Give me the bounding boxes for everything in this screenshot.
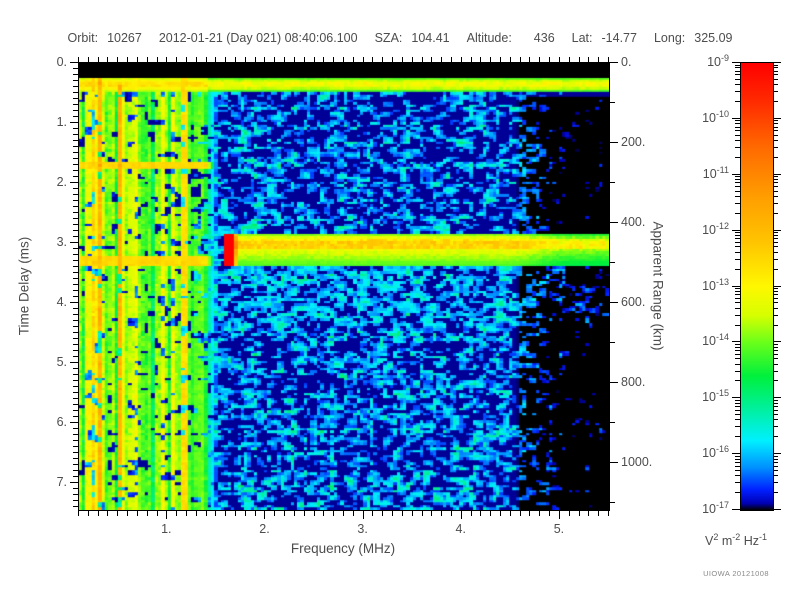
axis-tick [490, 57, 491, 62]
axis-tick [255, 511, 256, 516]
axis-tick [773, 174, 781, 175]
axis-tick [735, 371, 740, 372]
axis-tick [431, 57, 432, 62]
axis-tick [500, 511, 501, 516]
axis-tick [166, 511, 167, 519]
axis-tick [735, 419, 740, 420]
axis-tick [73, 452, 78, 453]
axis-tick [73, 398, 78, 399]
axis-tick [78, 511, 79, 516]
axis-tick [294, 57, 295, 62]
axis-tick [107, 57, 108, 62]
axis-tick [480, 57, 481, 62]
axis-tick [773, 147, 778, 148]
axis-tick [773, 235, 778, 236]
colorbar-tick-exponent: -17 [716, 500, 729, 510]
axis-tick [773, 91, 778, 92]
axis-tick [73, 416, 78, 417]
axis-tick [773, 475, 778, 476]
axis-tick [176, 511, 177, 516]
axis-tick [735, 74, 740, 75]
axis-tick [73, 314, 78, 315]
axis-tick [773, 397, 781, 398]
axis-tick [735, 67, 740, 68]
axis-tick [98, 511, 99, 516]
colorbar-tick-label: 10-11 [703, 167, 729, 181]
orbit-label: Orbit: [68, 31, 99, 45]
axis-tick [773, 462, 778, 463]
axis-tick [773, 84, 778, 85]
frequency-axis-title: Frequency (MHz) [78, 541, 608, 556]
axis-tick [735, 456, 740, 457]
axis-tick [773, 453, 781, 454]
axis-tick [735, 79, 740, 80]
axis-tick [117, 511, 118, 516]
axis-tick [610, 222, 618, 223]
axis-tick [735, 246, 740, 247]
axis-tick [773, 426, 778, 427]
axis-tick [735, 232, 740, 233]
axis-tick [773, 130, 778, 131]
axis-tick [137, 511, 138, 516]
apparent-range-tick-label: 400. [621, 215, 645, 229]
axis-tick [559, 511, 560, 519]
axis-tick [73, 236, 78, 237]
axis-tick [773, 65, 778, 66]
axis-tick [735, 347, 740, 348]
time-delay-axis-title: Time Delay (ms) [14, 62, 34, 509]
axis-tick [215, 57, 216, 62]
axis-tick [73, 500, 78, 501]
axis-tick [73, 146, 78, 147]
axis-tick [735, 130, 740, 131]
axis-tick [471, 57, 472, 62]
time-delay-tick-label: 5. [57, 355, 67, 369]
time-delay-tick-label: 2. [57, 175, 67, 189]
colorbar-tick-mantissa: 10 [702, 502, 716, 516]
axis-tick [73, 104, 78, 105]
axis-tick [735, 140, 740, 141]
axis-tick [773, 196, 778, 197]
colorbar-tick-label: 10-17 [702, 502, 729, 516]
axis-tick [773, 191, 778, 192]
axis-tick [73, 410, 78, 411]
axis-tick [735, 466, 740, 467]
axis-tick [735, 400, 740, 401]
axis-tick [610, 182, 615, 183]
axis-tick [73, 344, 78, 345]
axis-tick [343, 511, 344, 516]
axis-tick [73, 446, 78, 447]
axis-tick [773, 118, 781, 119]
colorbar-tick-label: 10-15 [702, 390, 729, 404]
axis-tick [117, 57, 118, 62]
axis-tick [608, 57, 609, 62]
axis-tick [735, 459, 740, 460]
axis-tick [314, 511, 315, 516]
axis-tick [735, 492, 740, 493]
apparent-range-tick-label: 200. [621, 135, 645, 149]
axis-tick [196, 57, 197, 62]
axis-tick [73, 332, 78, 333]
axis-tick [422, 511, 423, 516]
axis-tick [451, 511, 452, 516]
axis-tick [735, 91, 740, 92]
axis-tick [225, 57, 226, 62]
axis-tick [73, 230, 78, 231]
time-delay-tick-label: 1. [57, 115, 67, 129]
axis-tick [732, 509, 740, 510]
axis-tick [773, 400, 778, 401]
altitude-label: Altitude: [467, 31, 512, 45]
axis-tick [569, 511, 570, 516]
axis-tick [166, 57, 167, 62]
axis-tick [73, 272, 78, 273]
axis-tick [773, 364, 778, 365]
apparent-range-axis-title-text: Apparent Range (km) [651, 221, 666, 350]
time-delay-tick-label: 4. [57, 295, 67, 309]
axis-tick [107, 511, 108, 516]
time-delay-tick-label: 3. [57, 235, 67, 249]
axis-tick [735, 196, 740, 197]
axis-tick [451, 57, 452, 62]
axis-tick [732, 174, 740, 175]
axis-tick [735, 179, 740, 180]
axis-tick [70, 62, 78, 63]
axis-tick [735, 123, 740, 124]
axis-tick [73, 440, 78, 441]
colorbar [740, 62, 774, 511]
colorbar-units-m-exp: -2 [732, 532, 740, 542]
axis-tick [529, 511, 530, 516]
colorbar-tick-mantissa: 10 [702, 446, 716, 460]
axis-tick [147, 57, 148, 62]
axis-tick [735, 462, 740, 463]
axis-tick [773, 308, 778, 309]
colorbar-tick-label: 10-10 [702, 111, 729, 125]
axis-tick [735, 406, 740, 407]
axis-tick [510, 511, 511, 516]
axis-tick [773, 157, 778, 158]
axis-tick [773, 347, 778, 348]
apparent-range-tick-label: 0. [621, 55, 631, 69]
axis-tick [73, 86, 78, 87]
axis-tick [70, 182, 78, 183]
axis-tick [773, 176, 778, 177]
axis-tick [73, 470, 78, 471]
axis-tick [73, 68, 78, 69]
axis-tick [735, 380, 740, 381]
axis-tick [735, 127, 740, 128]
axis-tick [773, 406, 778, 407]
axis-tick [73, 254, 78, 255]
axis-tick [735, 470, 740, 471]
colorbar-units-hz-exp: -1 [759, 532, 767, 542]
axis-tick [73, 494, 78, 495]
axis-tick [73, 266, 78, 267]
axis-tick [773, 436, 778, 437]
axis-tick [735, 186, 740, 187]
ionogram-heatmap [79, 63, 609, 510]
axis-tick [773, 238, 778, 239]
axis-tick [73, 200, 78, 201]
axis-tick [773, 230, 781, 231]
axis-tick [73, 458, 78, 459]
axis-tick [773, 79, 778, 80]
axis-tick [608, 511, 609, 516]
axis-tick [610, 262, 615, 263]
axis-tick [529, 57, 530, 62]
axis-tick [735, 344, 740, 345]
axis-tick [735, 259, 740, 260]
axis-tick [549, 511, 550, 516]
axis-tick [284, 511, 285, 516]
axis-tick [304, 511, 305, 516]
axis-tick [773, 419, 778, 420]
axis-tick [520, 57, 521, 62]
axis-tick [773, 101, 778, 102]
time-delay-tick-label: 7. [57, 475, 67, 489]
colorbar-tick-label: 10-16 [702, 446, 729, 460]
colorbar-tick-mantissa: 10 [703, 167, 717, 181]
axis-tick [773, 291, 778, 292]
axis-tick [735, 238, 740, 239]
axis-tick [520, 511, 521, 516]
axis-tick [73, 116, 78, 117]
axis-tick [732, 453, 740, 454]
axis-tick [73, 374, 78, 375]
axis-tick [412, 57, 413, 62]
colorbar-tick-mantissa: 10 [702, 223, 716, 237]
colorbar-tick-exponent: -11 [717, 165, 729, 175]
axis-tick [402, 57, 403, 62]
axis-tick [372, 511, 373, 516]
colorbar-tick-mantissa: 10 [702, 334, 716, 348]
axis-tick [773, 62, 781, 63]
axis-tick [735, 120, 740, 121]
axis-tick [73, 140, 78, 141]
axis-tick [422, 57, 423, 62]
axis-tick [732, 397, 740, 398]
axis-tick [732, 62, 740, 63]
axis-tick [73, 212, 78, 213]
axis-tick [88, 57, 89, 62]
axis-tick [73, 392, 78, 393]
colorbar-tick-exponent: -14 [716, 332, 729, 342]
axis-tick [73, 110, 78, 111]
axis-tick [735, 350, 740, 351]
axis-tick [73, 170, 78, 171]
axis-tick [73, 128, 78, 129]
axis-tick [73, 194, 78, 195]
axis-tick [157, 511, 158, 516]
axis-tick [773, 242, 778, 243]
axis-tick [735, 414, 740, 415]
axis-tick [73, 290, 78, 291]
axis-tick [412, 511, 413, 516]
axis-tick [73, 158, 78, 159]
axis-tick [461, 57, 462, 62]
sza-value: 104.41 [411, 31, 449, 45]
axis-tick [70, 482, 78, 483]
axis-tick [735, 291, 740, 292]
axis-tick [73, 152, 78, 153]
axis-tick [735, 191, 740, 192]
axis-tick [773, 302, 778, 303]
axis-tick [735, 482, 740, 483]
axis-tick [147, 511, 148, 516]
axis-tick [73, 404, 78, 405]
axis-tick [598, 511, 599, 516]
axis-tick [304, 57, 305, 62]
axis-tick [773, 67, 778, 68]
axis-tick [735, 252, 740, 253]
colorbar-tick-exponent: -9 [721, 53, 729, 63]
axis-tick [773, 403, 778, 404]
axis-tick [382, 511, 383, 516]
axis-tick [610, 342, 615, 343]
axis-tick [73, 164, 78, 165]
axis-tick [510, 57, 511, 62]
axis-tick [73, 218, 78, 219]
altitude-value: 436 [534, 31, 555, 45]
axis-tick [294, 511, 295, 516]
axis-tick [735, 358, 740, 359]
axis-tick [441, 511, 442, 516]
time-delay-tick-label: 6. [57, 415, 67, 429]
axis-tick [735, 354, 740, 355]
axis-tick [735, 176, 740, 177]
axis-tick [735, 242, 740, 243]
axis-tick [773, 179, 778, 180]
colorbar-tick-mantissa: 10 [702, 111, 716, 125]
latitude-value: -14.77 [602, 31, 637, 45]
axis-tick [70, 122, 78, 123]
axis-tick [735, 288, 740, 289]
axis-tick [773, 213, 778, 214]
axis-tick [735, 315, 740, 316]
axis-tick [333, 57, 334, 62]
axis-tick [773, 269, 778, 270]
axis-tick [363, 57, 364, 62]
axis-tick [735, 101, 740, 102]
axis-tick [773, 259, 778, 260]
axis-tick [73, 476, 78, 477]
axis-tick [773, 325, 778, 326]
axis-tick [73, 428, 78, 429]
axis-tick [274, 511, 275, 516]
axis-tick [245, 57, 246, 62]
axis-tick [73, 260, 78, 261]
axis-tick [735, 364, 740, 365]
axis-tick [372, 57, 373, 62]
axis-tick [610, 422, 615, 423]
axis-tick [353, 511, 354, 516]
axis-tick [206, 57, 207, 62]
axis-tick [773, 371, 778, 372]
axis-tick [773, 466, 778, 467]
axis-tick [186, 511, 187, 516]
axis-tick [735, 213, 740, 214]
axis-tick [73, 308, 78, 309]
axis-tick [773, 232, 778, 233]
axis-tick [735, 302, 740, 303]
colorbar-units-v-exp: 2 [713, 532, 718, 542]
axis-tick [127, 57, 128, 62]
axis-tick [773, 71, 778, 72]
axis-tick [392, 57, 393, 62]
time-delay-tick-label: 0. [57, 55, 67, 69]
axis-tick [382, 57, 383, 62]
axis-tick [196, 511, 197, 516]
axis-tick [610, 302, 618, 303]
axis-tick [773, 298, 778, 299]
axis-tick [773, 354, 778, 355]
axis-tick [98, 57, 99, 62]
axis-tick [773, 252, 778, 253]
observation-datetime: 2012-01-21 (Day 021) 08:40:06.100 [159, 31, 358, 45]
axis-tick [732, 286, 740, 287]
axis-tick [245, 511, 246, 516]
axis-tick [235, 57, 236, 62]
axis-tick [73, 224, 78, 225]
colorbar-tick-label: 10-14 [702, 334, 729, 348]
axis-tick [471, 511, 472, 516]
colorbar-tick-exponent: -10 [716, 109, 729, 119]
axis-tick [206, 511, 207, 516]
axis-tick [579, 511, 580, 516]
axis-tick [323, 511, 324, 516]
axis-tick [773, 414, 778, 415]
frequency-tick-label: 1. [161, 522, 171, 536]
axis-tick [127, 511, 128, 516]
axis-tick [73, 386, 78, 387]
axis-tick [735, 235, 740, 236]
axis-tick [480, 511, 481, 516]
axis-tick [333, 511, 334, 516]
axis-tick [73, 350, 78, 351]
frequency-tick-label: 5. [554, 522, 564, 536]
axis-tick [137, 57, 138, 62]
axis-tick [314, 57, 315, 62]
axis-tick [70, 242, 78, 243]
apparent-range-axis-title: Apparent Range (km) [648, 62, 668, 509]
axis-tick [773, 286, 781, 287]
axis-tick [73, 278, 78, 279]
axis-tick [773, 120, 778, 121]
colorbar-units-hz: Hz [744, 534, 759, 548]
axis-tick [70, 362, 78, 363]
axis-tick [773, 350, 778, 351]
frequency-tick-label: 3. [357, 522, 367, 536]
axis-tick [392, 511, 393, 516]
axis-tick [735, 298, 740, 299]
frequency-tick-label: 2. [259, 522, 269, 536]
axis-tick [773, 344, 778, 345]
axis-tick [88, 511, 89, 516]
orbit-value: 10267 [107, 31, 142, 45]
axis-tick [264, 57, 265, 62]
axis-tick [773, 135, 778, 136]
axis-tick [402, 511, 403, 516]
axis-tick [461, 511, 462, 519]
axis-tick [559, 57, 560, 62]
axis-tick [773, 509, 781, 510]
axis-tick [539, 511, 540, 516]
axis-tick [735, 71, 740, 72]
axis-tick [235, 511, 236, 516]
axis-tick [73, 434, 78, 435]
